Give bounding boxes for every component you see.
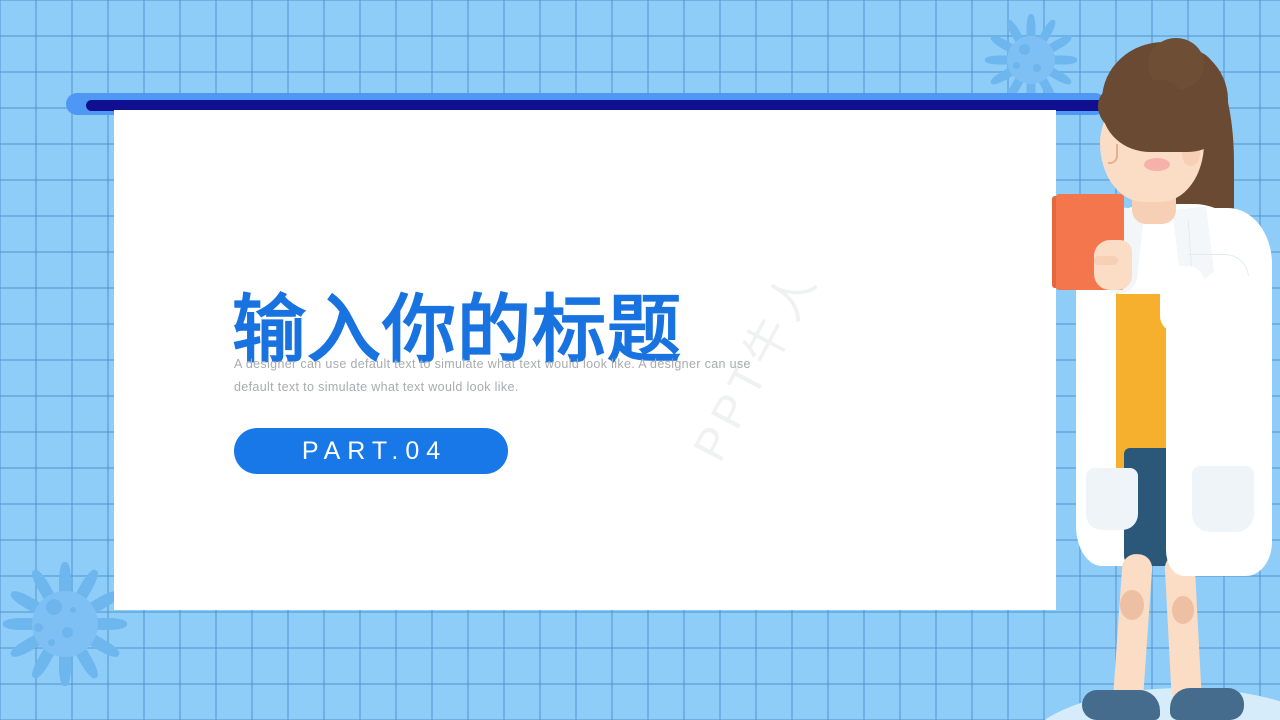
hand xyxy=(1094,240,1132,290)
subtitle-text: A designer can use default text to simul… xyxy=(234,353,768,399)
finger xyxy=(1094,256,1118,265)
doctor-illustration xyxy=(1040,18,1280,720)
knee-left xyxy=(1120,590,1144,620)
leg-left xyxy=(1113,553,1153,701)
shoe-right xyxy=(1170,688,1244,720)
virus-icon-bottom-left xyxy=(4,565,126,683)
presentation-slide: PPT牛人 输入你的标题 A designer can use default … xyxy=(0,0,1280,720)
shoe-left xyxy=(1082,690,1160,720)
coat-pocket-left xyxy=(1086,468,1138,530)
hair-fringe xyxy=(1098,80,1184,132)
knee-right xyxy=(1172,596,1194,624)
coat-pocket-right xyxy=(1192,466,1254,532)
coat-cuff xyxy=(1160,266,1204,332)
cheek-blush xyxy=(1144,158,1170,171)
section-badge-part-04[interactable]: PART.04 xyxy=(234,428,508,474)
